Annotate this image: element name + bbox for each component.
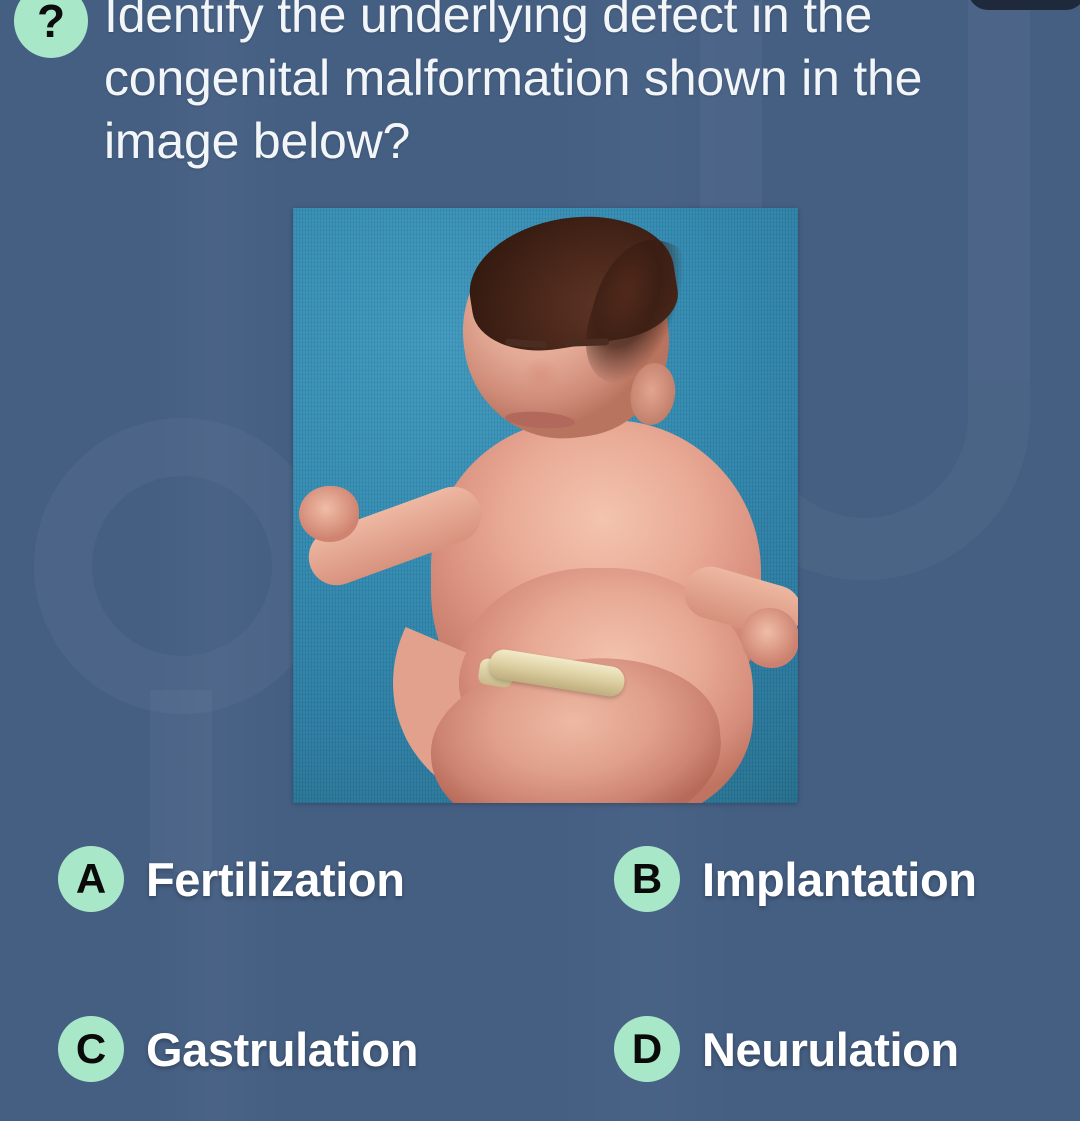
option-c-letter-icon: C bbox=[58, 1016, 124, 1082]
option-b[interactable]: B Implantation bbox=[614, 836, 977, 922]
option-d[interactable]: D Neurulation bbox=[614, 1006, 959, 1092]
options-row-bottom: C Gastrulation D Neurulation bbox=[0, 1006, 1080, 1092]
option-b-label: Implantation bbox=[702, 852, 977, 907]
option-a-letter-icon: A bbox=[58, 846, 124, 912]
option-d-letter-icon: D bbox=[614, 1016, 680, 1082]
watermark-ring-icon bbox=[34, 418, 330, 714]
option-a-label: Fertilization bbox=[146, 852, 405, 907]
question-block: ? Identify the underlying defect in the … bbox=[0, 0, 1080, 173]
photo-vignette bbox=[293, 208, 798, 803]
option-c[interactable]: C Gastrulation bbox=[58, 1006, 418, 1092]
clinical-photo bbox=[293, 208, 798, 803]
options-row-top: A Fertilization B Implantation bbox=[0, 836, 1080, 922]
option-a[interactable]: A Fertilization bbox=[58, 836, 405, 922]
question-mark-icon: ? bbox=[14, 0, 88, 58]
option-b-letter-icon: B bbox=[614, 846, 680, 912]
option-d-label: Neurulation bbox=[702, 1022, 959, 1077]
quiz-screen: ? Identify the underlying defect in the … bbox=[0, 0, 1080, 1121]
option-c-label: Gastrulation bbox=[146, 1022, 418, 1077]
question-text: Identify the underlying defect in the co… bbox=[104, 0, 1034, 173]
